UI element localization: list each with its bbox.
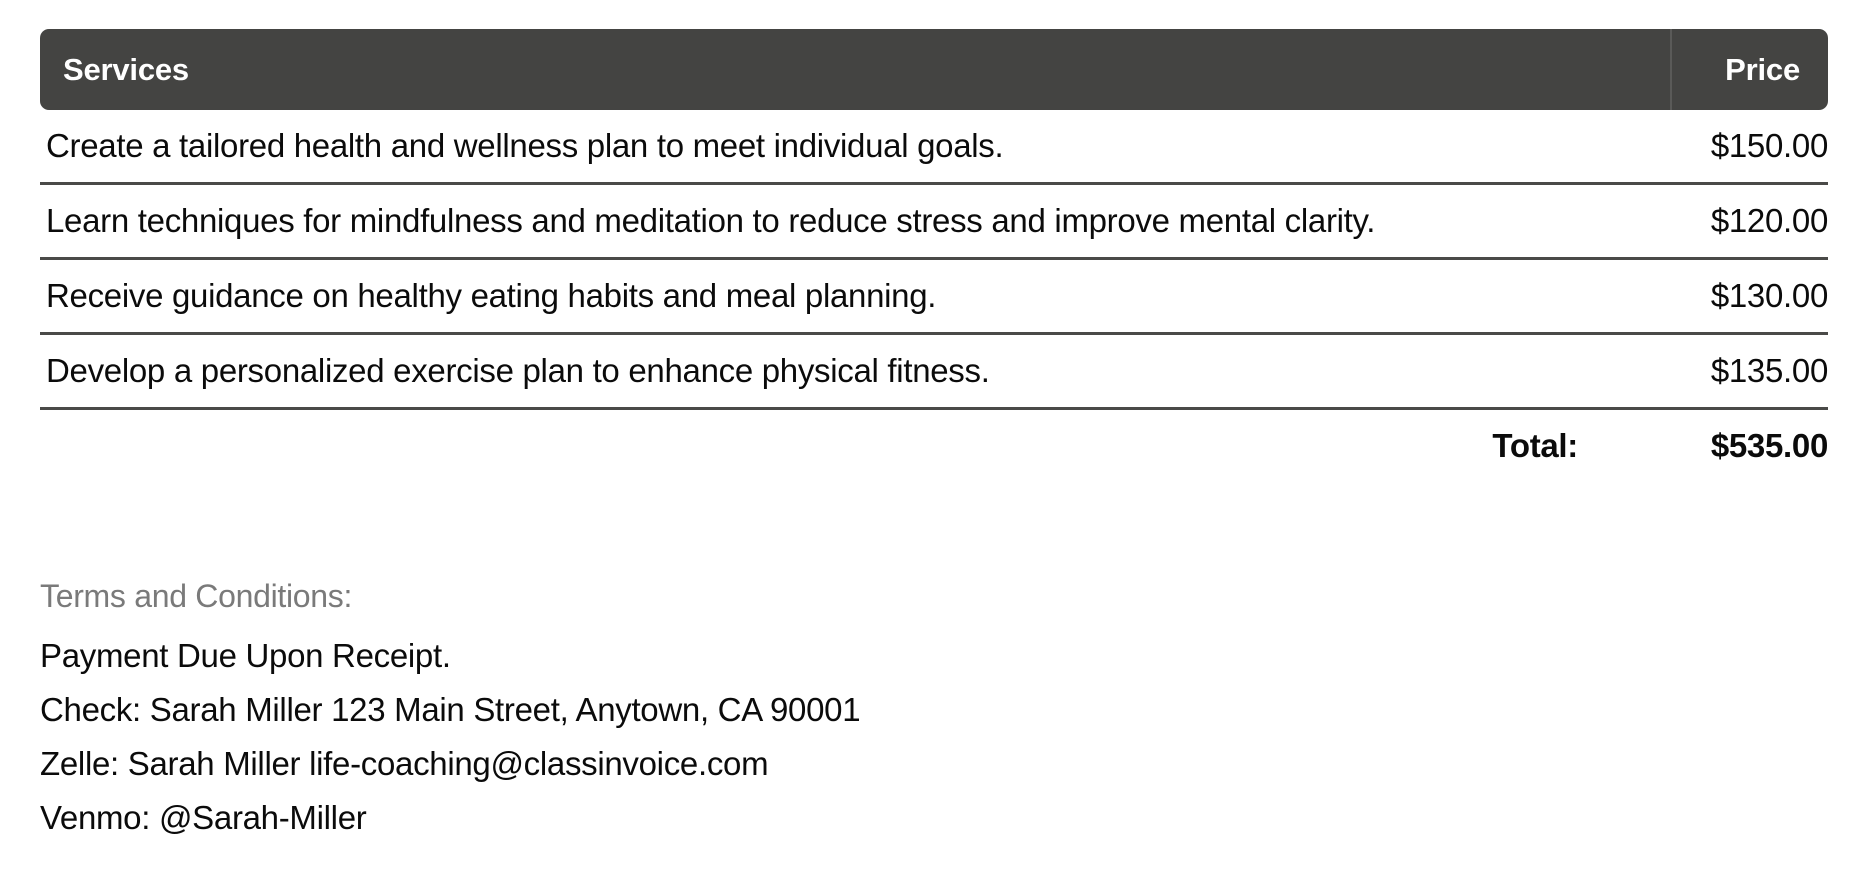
table-header-row: Services Price [40, 29, 1828, 110]
service-price: $120.00 [1670, 202, 1828, 240]
table-row: Create a tailored health and wellness pl… [40, 110, 1828, 185]
service-price: $130.00 [1670, 277, 1828, 315]
service-description: Learn techniques for mindfulness and med… [40, 202, 1670, 240]
table-row: Develop a personalized exercise plan to … [40, 335, 1828, 410]
terms-line-venmo: Venmo: @Sarah-Miller [40, 791, 1828, 845]
service-description: Receive guidance on healthy eating habit… [40, 277, 1670, 315]
services-price-table: Services Price Create a tailored health … [40, 29, 1828, 482]
service-price: $150.00 [1670, 127, 1828, 165]
terms-heading: Terms and Conditions: [40, 578, 1828, 615]
invoice-page: Services Price Create a tailored health … [0, 0, 1868, 870]
service-description: Create a tailored health and wellness pl… [40, 127, 1670, 165]
terms-line-payment-due: Payment Due Upon Receipt. [40, 629, 1828, 683]
terms-and-conditions-section: Terms and Conditions: Payment Due Upon R… [40, 578, 1828, 845]
column-header-price: Price [1670, 29, 1828, 110]
total-label: Total: [40, 427, 1670, 465]
terms-line-zelle: Zelle: Sarah Miller life-coaching@classi… [40, 737, 1828, 791]
total-value: $535.00 [1670, 427, 1828, 465]
terms-line-check: Check: Sarah Miller 123 Main Street, Any… [40, 683, 1828, 737]
table-row: Learn techniques for mindfulness and med… [40, 185, 1828, 260]
total-row: Total: $535.00 [40, 410, 1828, 482]
service-price: $135.00 [1670, 352, 1828, 390]
table-row: Receive guidance on healthy eating habit… [40, 260, 1828, 335]
column-header-services: Services [40, 52, 1670, 88]
service-description: Develop a personalized exercise plan to … [40, 352, 1670, 390]
